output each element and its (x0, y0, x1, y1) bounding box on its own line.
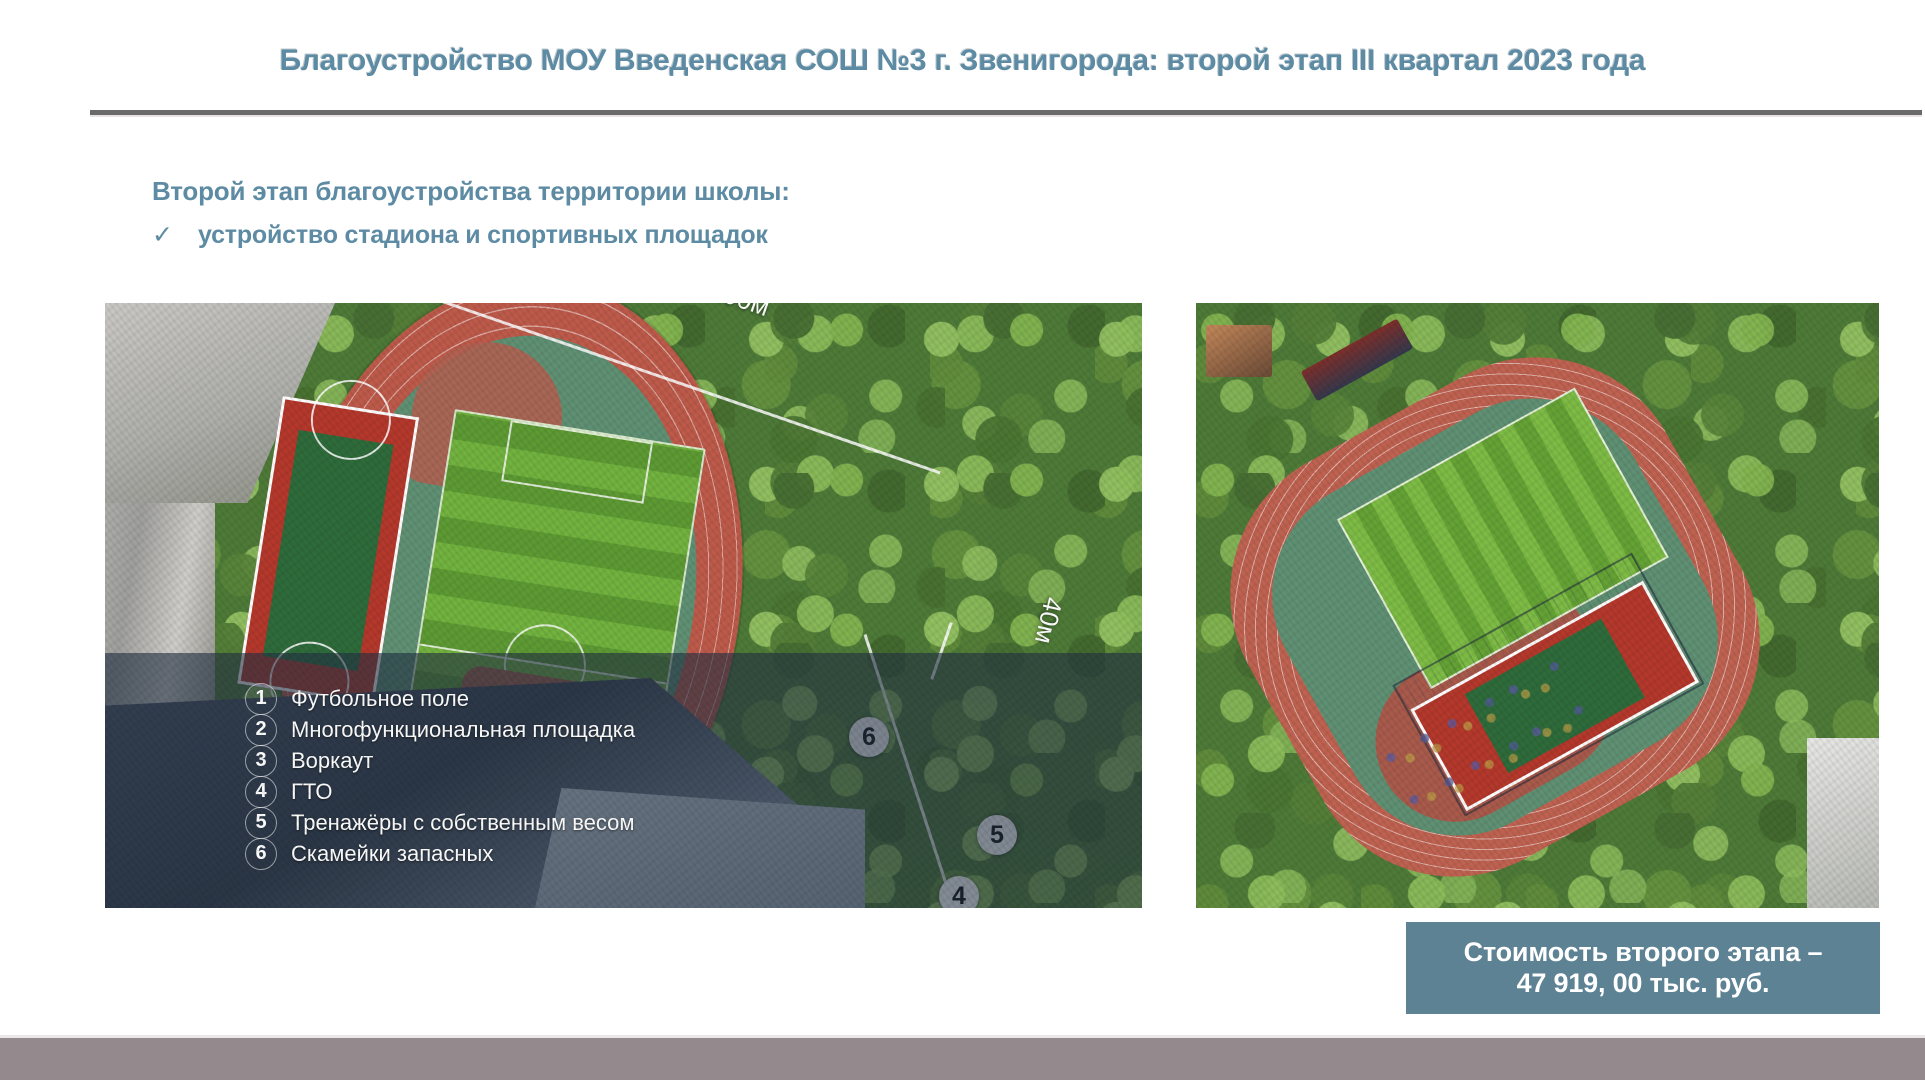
bullet-text: устройство стадиона и спортивных площадо… (198, 221, 768, 250)
bullet-row: ✓ устройство стадиона и спортивных площа… (152, 221, 790, 250)
cost-line-2: 47 919, 00 тыс. руб. (1517, 968, 1770, 999)
cost-line-1: Стоимость второго этапа – (1464, 937, 1823, 968)
aerial-photo-annotated: 100м 40м 1 2 3 4 5 5 6 1 Футбольное поле… (105, 303, 1142, 908)
photo-texture (105, 303, 1142, 908)
aerial-photo-overview (1196, 303, 1879, 908)
photo-texture (1196, 303, 1879, 908)
check-icon: ✓ (152, 223, 198, 248)
subtitle-heading: Второй этап благоустройства территории ш… (152, 176, 790, 207)
title-divider (90, 110, 1922, 117)
footer-bar (0, 1035, 1925, 1080)
subtitle-block: Второй этап благоустройства территории ш… (152, 176, 790, 250)
cost-callout: Стоимость второго этапа – 47 919, 00 тыс… (1406, 922, 1880, 1014)
page-title: Благоустройство МОУ Введенская СОШ №3 г.… (0, 44, 1925, 78)
